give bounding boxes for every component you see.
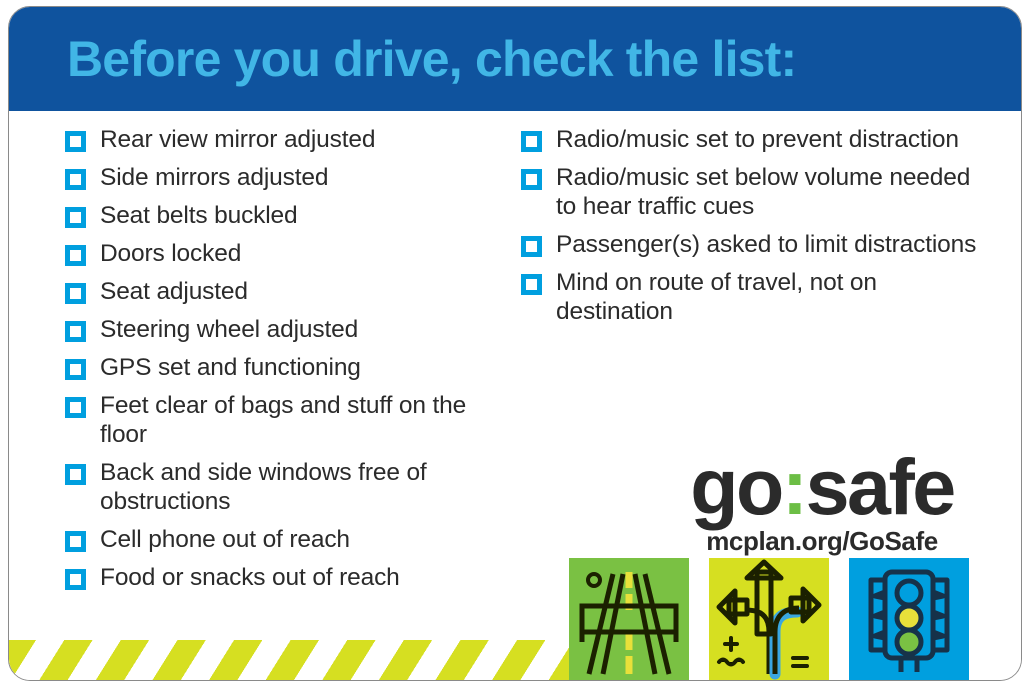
checkbox-icon[interactable] — [65, 569, 86, 590]
logo-go: go — [690, 442, 782, 531]
logo-colon: : — [782, 442, 806, 531]
checkbox-icon[interactable] — [521, 274, 542, 295]
checklist-left-column: Rear view mirror adjustedSide mirrors ad… — [65, 125, 505, 601]
checklist-item-label: Seat adjusted — [100, 277, 248, 306]
checkbox-inner — [526, 279, 537, 290]
checkbox-icon[interactable] — [65, 531, 86, 552]
checklist-item-label: Doors locked — [100, 239, 241, 268]
checklist-item[interactable]: GPS set and functioning — [65, 353, 505, 382]
checklist-item[interactable]: Mind on route of travel, not on destinat… — [521, 268, 981, 326]
checkbox-inner — [70, 574, 81, 585]
checkbox-icon[interactable] — [521, 236, 542, 257]
checklist-item-label: Food or snacks out of reach — [100, 563, 400, 592]
traffic-light-icon — [849, 558, 969, 680]
checklist-item-label: Cell phone out of reach — [100, 525, 350, 554]
checkbox-inner — [70, 250, 81, 261]
direction-arrows-icon — [709, 558, 829, 680]
checklist-right-column: Radio/music set to prevent distractionRa… — [521, 125, 981, 335]
checklist-item-label: Feet clear of bags and stuff on the floo… — [100, 391, 505, 449]
checklist-item[interactable]: Rear view mirror adjusted — [65, 125, 505, 154]
checklist-item[interactable]: Seat adjusted — [65, 277, 505, 306]
checkbox-inner — [526, 241, 537, 252]
gosafe-logo: go:safe mcplan.org/GoSafe — [657, 451, 987, 557]
checklist-item[interactable]: Back and side windows free of obstructio… — [65, 458, 505, 516]
checklist-item-label: Passenger(s) asked to limit distractions — [556, 230, 976, 259]
checkbox-inner — [526, 136, 537, 147]
checklist-item-label: Rear view mirror adjusted — [100, 125, 375, 154]
checkbox-icon[interactable] — [65, 321, 86, 342]
checkbox-icon[interactable] — [65, 359, 86, 380]
checklist-item[interactable]: Passenger(s) asked to limit distractions — [521, 230, 981, 259]
page-title: Before you drive, check the list: — [67, 30, 796, 88]
checkbox-inner — [70, 174, 81, 185]
checkbox-icon[interactable] — [521, 131, 542, 152]
checklist-item[interactable]: Food or snacks out of reach — [65, 563, 505, 592]
checkbox-icon[interactable] — [65, 131, 86, 152]
checkbox-inner — [70, 136, 81, 147]
checkbox-inner — [70, 469, 81, 480]
logo-wordmark: go:safe — [657, 451, 987, 524]
checklist-item-label: Steering wheel adjusted — [100, 315, 358, 344]
checkbox-inner — [70, 288, 81, 299]
checkbox-icon[interactable] — [65, 207, 86, 228]
checklist-item[interactable]: Feet clear of bags and stuff on the floo… — [65, 391, 505, 449]
logo-safe: safe — [806, 442, 954, 531]
checkbox-icon[interactable] — [521, 169, 542, 190]
card-header: Before you drive, check the list: — [9, 7, 1021, 111]
checklist-item-label: GPS set and functioning — [100, 353, 361, 382]
hazard-stripe-bar — [9, 640, 577, 680]
checklist-item[interactable]: Radio/music set below volume needed to h… — [521, 163, 981, 221]
checklist-item[interactable]: Steering wheel adjusted — [65, 315, 505, 344]
card-body: Rear view mirror adjustedSide mirrors ad… — [9, 111, 1021, 680]
road-icon — [569, 558, 689, 680]
checklist-item[interactable]: Doors locked — [65, 239, 505, 268]
checkbox-icon[interactable] — [65, 169, 86, 190]
checklist-item-label: Side mirrors adjusted — [100, 163, 328, 192]
checkbox-inner — [70, 364, 81, 375]
checkbox-icon[interactable] — [65, 464, 86, 485]
checklist-item[interactable]: Radio/music set to prevent distraction — [521, 125, 981, 154]
icon-tiles — [569, 558, 969, 680]
checklist-item-label: Seat belts buckled — [100, 201, 298, 230]
checklist-item-label: Mind on route of travel, not on destinat… — [556, 268, 981, 326]
checklist-item[interactable]: Cell phone out of reach — [65, 525, 505, 554]
checklist-card: Before you drive, check the list: Rear v… — [8, 6, 1022, 681]
checklist-item-label: Radio/music set below volume needed to h… — [556, 163, 981, 221]
checklist-item[interactable]: Seat belts buckled — [65, 201, 505, 230]
checklist-item-label: Radio/music set to prevent distraction — [556, 125, 959, 154]
checkbox-inner — [70, 536, 81, 547]
checkbox-inner — [70, 402, 81, 413]
checkbox-icon[interactable] — [65, 245, 86, 266]
checkbox-inner — [526, 174, 537, 185]
checklist-item[interactable]: Side mirrors adjusted — [65, 163, 505, 192]
checkbox-inner — [70, 212, 81, 223]
checklist-item-label: Back and side windows free of obstructio… — [100, 458, 505, 516]
checkbox-icon[interactable] — [65, 397, 86, 418]
logo-url: mcplan.org/GoSafe — [657, 526, 987, 557]
checkbox-inner — [70, 326, 81, 337]
checkbox-icon[interactable] — [65, 283, 86, 304]
